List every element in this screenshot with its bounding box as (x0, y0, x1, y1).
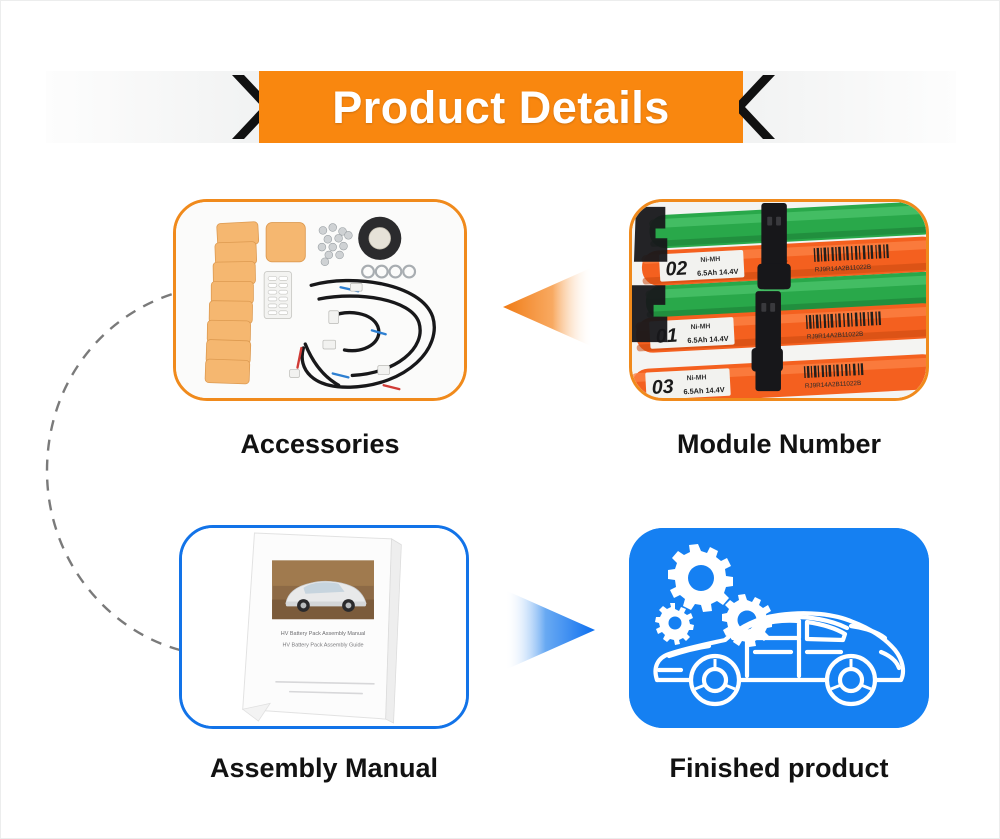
header-banner: Product Details (46, 71, 956, 143)
arrow-right-icon (501, 586, 597, 674)
battery-modules-photo: 02 Ni-MH 6.5Ah 14.4V + RJ9R14A2B11022B (632, 202, 926, 398)
finished-product-illustration (629, 528, 929, 728)
svg-text:HV Battery Pack Assembly Manua: HV Battery Pack Assembly Manual (281, 631, 366, 637)
page-title: Product Details (332, 85, 670, 130)
card-accessories[interactable] (173, 199, 467, 401)
caption-assembly-manual: Assembly Manual (179, 753, 469, 784)
svg-text:Ni-MH: Ni-MH (687, 374, 707, 382)
accessories-kit-photo (176, 202, 464, 398)
product-details-page: Product Details (0, 0, 1000, 839)
caption-module-number: Module Number (629, 429, 929, 460)
card-assembly-manual[interactable]: HV Battery Pack Assembly Manual HV Batte… (179, 525, 469, 729)
assembly-manual-booklet-photo: HV Battery Pack Assembly Manual HV Batte… (182, 528, 466, 726)
caption-finished-product: Finished product (629, 753, 929, 784)
svg-text:02: 02 (665, 257, 688, 280)
svg-text:03: 03 (651, 376, 674, 398)
card-module-number[interactable]: 02 Ni-MH 6.5Ah 14.4V + RJ9R14A2B11022B (629, 199, 929, 401)
svg-text:Ni-MH: Ni-MH (690, 323, 710, 331)
svg-text:HV Battery Pack Assembly Guide: HV Battery Pack Assembly Guide (282, 643, 363, 649)
chevron-left-icon (739, 71, 779, 143)
card-finished-product[interactable] (629, 528, 929, 728)
arrow-left-icon (501, 263, 597, 351)
header-ribbon: Product Details (259, 71, 743, 143)
svg-text:Ni-MH: Ni-MH (700, 256, 720, 264)
caption-accessories: Accessories (173, 429, 467, 460)
